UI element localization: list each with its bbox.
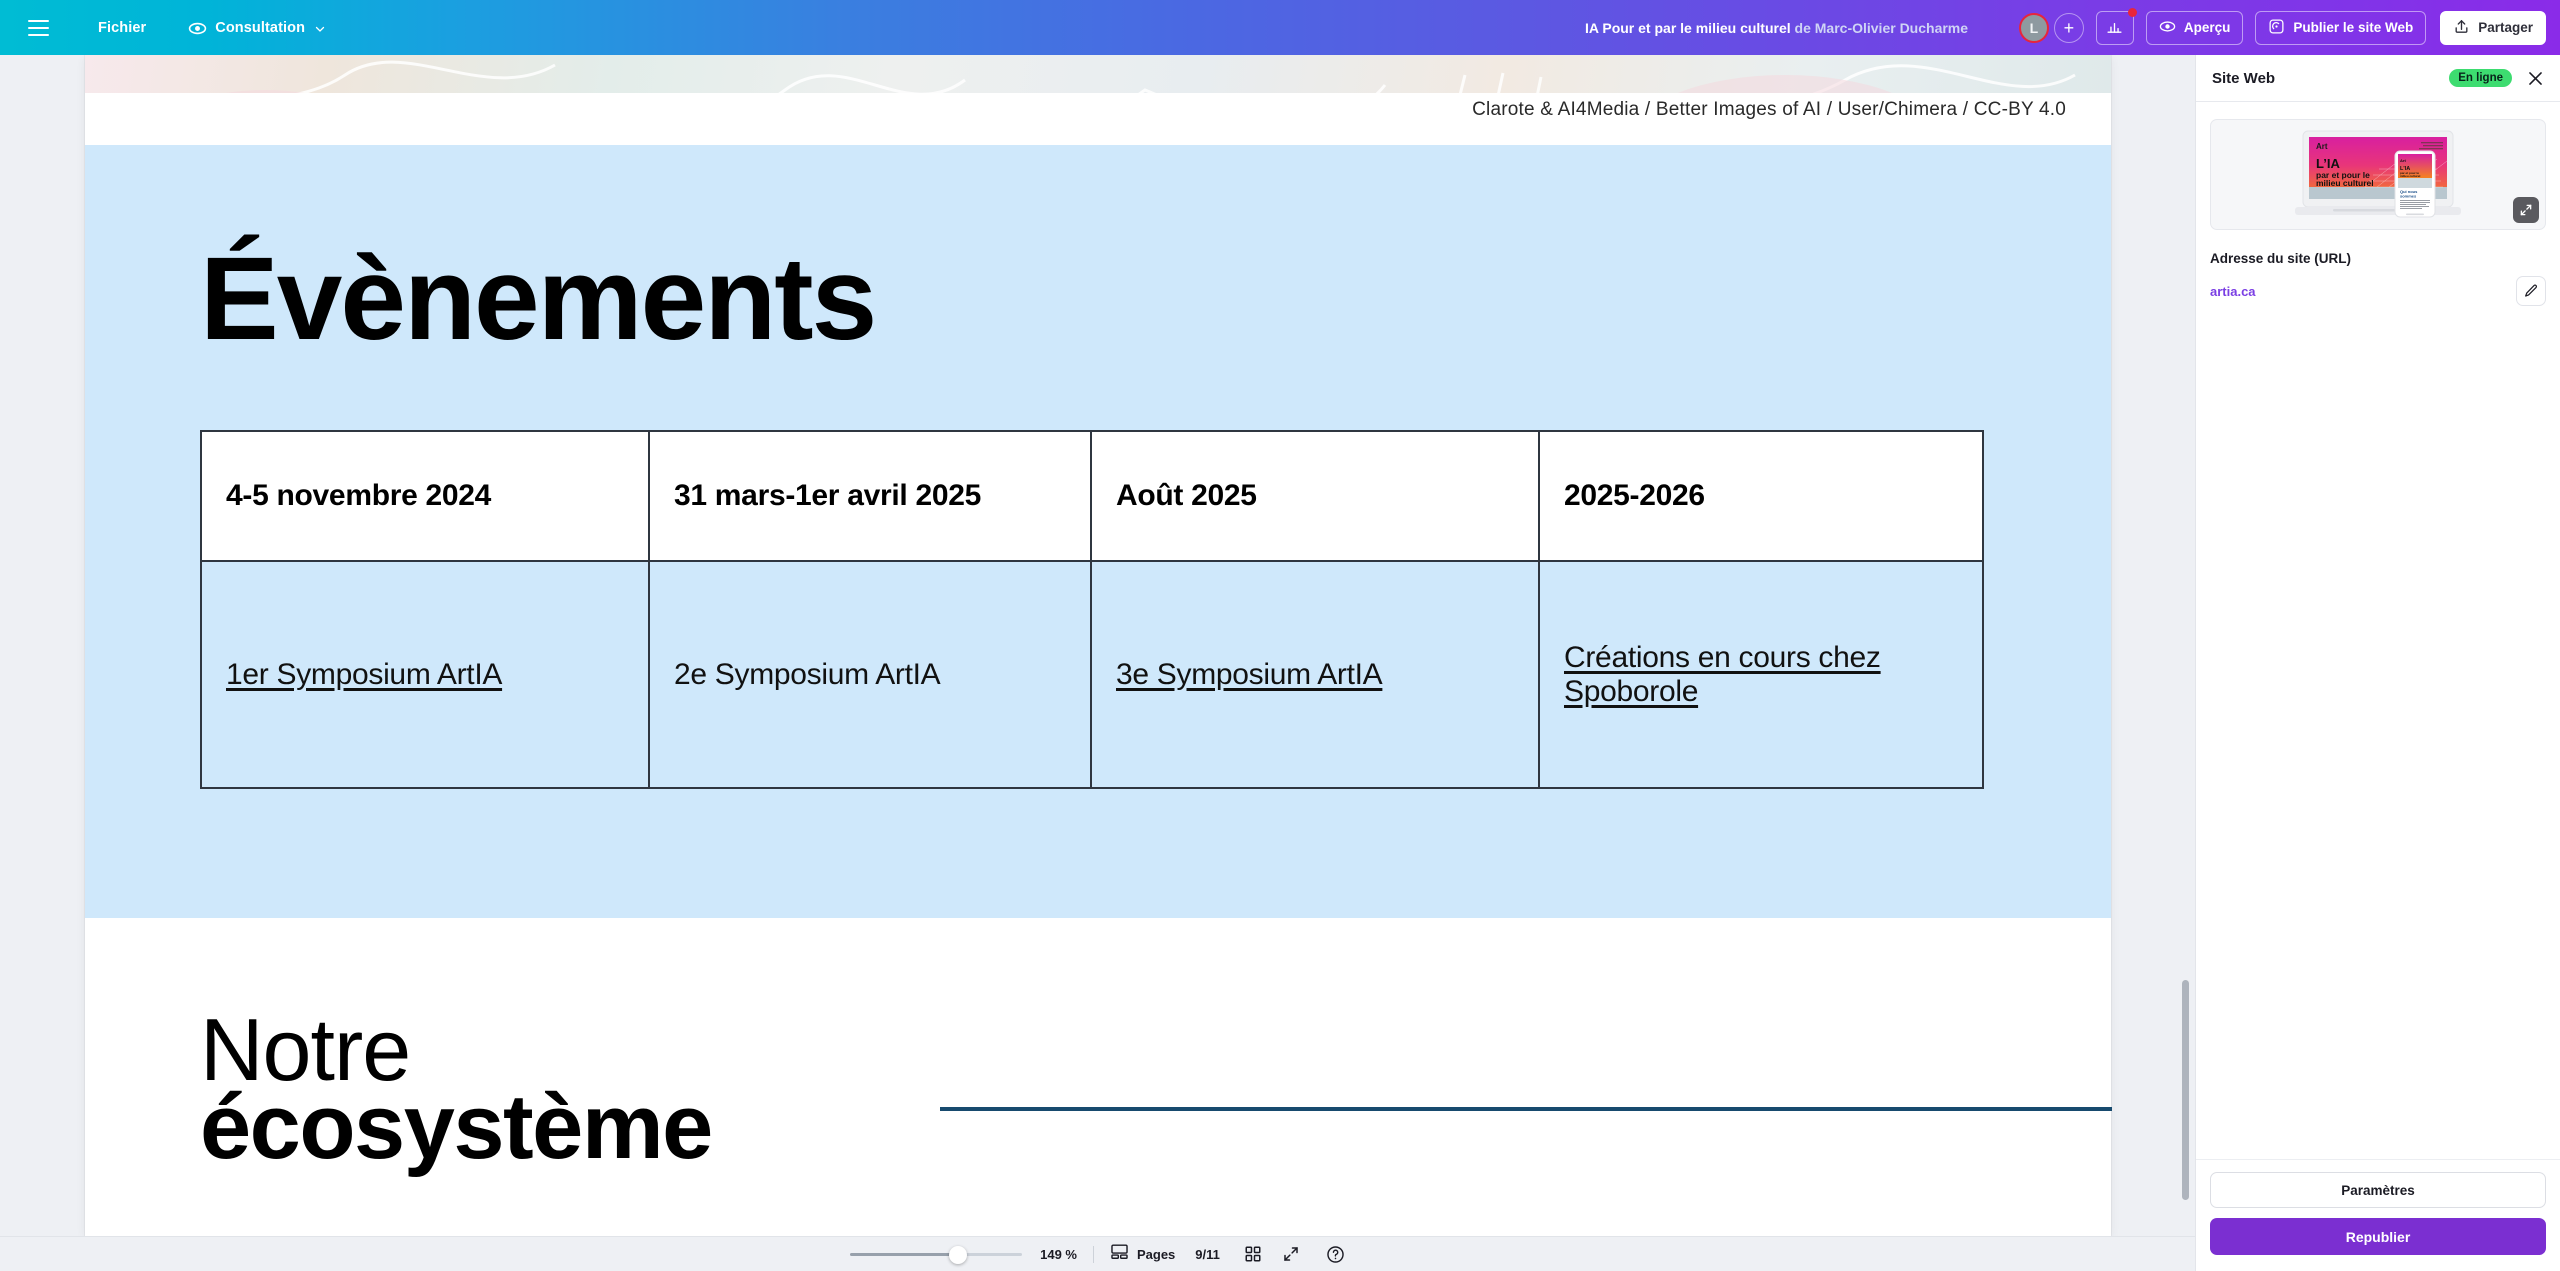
event-link-label[interactable]: Créations en cours chez Spoborole (1564, 641, 1881, 708)
site-preview-thumbnail: Art L’IA par et pour le milieu culturel … (2273, 129, 2483, 221)
grid-view-button[interactable] (1244, 1245, 1262, 1263)
expand-arrows-icon[interactable] (2513, 197, 2539, 223)
table-cell-event-link[interactable]: 3e Symposium ArtIA (1091, 561, 1539, 788)
republish-button[interactable]: Republier (2210, 1218, 2546, 1255)
page-title: Évènements (200, 240, 875, 358)
svg-text:Art: Art (2316, 142, 2328, 151)
table-header-cell: 2025-2026 (1539, 431, 1983, 561)
publish-website-button[interactable]: Publier le site Web (2255, 11, 2426, 45)
menu-item-fichier[interactable]: Fichier (88, 13, 156, 43)
site-url-link[interactable]: artia.ca (2210, 284, 2516, 299)
status-divider (1093, 1246, 1094, 1263)
table-header-cell: 4-5 novembre 2024 (201, 431, 649, 561)
collaborators: L + (2019, 13, 2084, 43)
canvas-scrollbar[interactable] (2182, 980, 2189, 1200)
status-badge: En ligne (2449, 69, 2512, 87)
help-button[interactable] (1326, 1245, 1345, 1264)
zoom-controls: 149 % (850, 1247, 1077, 1262)
share-button-label: Partager (2478, 20, 2533, 35)
table-row-header: 4-5 novembre 2024 31 mars-1er avril 2025… (201, 431, 1983, 561)
add-collaborator-button[interactable]: + (2054, 13, 2084, 43)
svg-text:L’IA: L’IA (2316, 156, 2340, 171)
eye-icon (2159, 18, 2176, 38)
publish-button-label: Publier le site Web (2293, 20, 2413, 35)
svg-text:milieu culturel: milieu culturel (2316, 178, 2374, 188)
url-label: Adresse du site (URL) (2210, 251, 2546, 266)
hero-image-strip (85, 55, 2111, 93)
notification-badge (2128, 8, 2137, 17)
chevron-down-icon (314, 22, 325, 33)
document-title-author: de Marc-Olivier Ducharme (1791, 20, 1968, 36)
statistics-button[interactable] (2096, 11, 2134, 45)
menu-item-fichier-label: Fichier (98, 20, 146, 36)
svg-text:milieu culturel: milieu culturel (2400, 174, 2421, 178)
share-button[interactable]: Partager (2440, 11, 2546, 45)
globe-publish-icon (2268, 18, 2285, 38)
preview-button[interactable]: Aperçu (2146, 11, 2244, 45)
svg-text:sommes: sommes (2400, 193, 2417, 198)
fullscreen-button[interactable] (1282, 1245, 1300, 1263)
zoom-track-empty (960, 1253, 1022, 1256)
panel-footer: Paramètres Republier (2196, 1159, 2560, 1271)
ecosystem-heading-line2: écosystème (200, 1085, 712, 1170)
zoom-level-label: 149 % (1040, 1247, 1077, 1262)
website-panel: Site Web En ligne (2195, 55, 2560, 1271)
zoom-track-filled (850, 1253, 960, 1256)
pages-layout-icon (1110, 1242, 1129, 1266)
zoom-slider-handle[interactable] (949, 1246, 967, 1264)
pencil-icon[interactable] (2516, 276, 2546, 306)
status-bar: 149 % Pages 9/11 (0, 1236, 2195, 1271)
ecosystem-divider (940, 1107, 2112, 1111)
eye-icon (188, 19, 206, 37)
event-link-label[interactable]: 3e Symposium ArtIA (1116, 658, 1382, 691)
document-title[interactable]: IA Pour et par le milieu culturel de Mar… (1585, 20, 1968, 36)
abstract-illustration (85, 55, 2111, 93)
event-link-label[interactable]: 1er Symposium ArtIA (226, 658, 502, 691)
panel-header: Site Web En ligne (2196, 55, 2560, 102)
share-upload-icon (2453, 18, 2470, 38)
pages-button-label: Pages (1137, 1247, 1175, 1262)
menu-item-consultation-label: Consultation (215, 20, 305, 36)
event-label: 2e Symposium ArtIA (674, 658, 940, 691)
preview-button-label: Aperçu (2184, 20, 2231, 35)
table-row: 1er Symposium ArtIA 2e Symposium ArtIA 3… (201, 561, 1983, 788)
pages-button[interactable]: Pages (1110, 1242, 1175, 1266)
document-title-main: IA Pour et par le milieu culturel (1585, 20, 1791, 36)
image-attribution: Clarote & AI4Media / Better Images of AI… (85, 99, 2111, 121)
table-cell-event-link[interactable]: 1er Symposium ArtIA (201, 561, 649, 788)
svg-text:Art: Art (2400, 158, 2406, 163)
menu-item-consultation[interactable]: Consultation (178, 13, 335, 43)
zoom-slider[interactable] (850, 1247, 1022, 1261)
events-table: 4-5 novembre 2024 31 mars-1er avril 2025… (200, 430, 1984, 789)
bar-chart-icon (2106, 18, 2123, 38)
canvas-workspace[interactable]: Clarote & AI4Media / Better Images of AI… (0, 55, 2195, 1236)
avatar[interactable]: L (2019, 13, 2049, 43)
toolbar-actions: L + Aperçu (2019, 0, 2546, 55)
url-row: artia.ca (2210, 276, 2546, 306)
table-cell-event-link[interactable]: Créations en cours chez Spoborole (1539, 561, 1983, 788)
hamburger-menu-icon[interactable] (20, 10, 56, 46)
table-header-cell: Août 2025 (1091, 431, 1539, 561)
top-toolbar: Fichier Consultation IA Pour et par le m… (0, 0, 2560, 55)
site-preview-card[interactable]: Art L’IA par et pour le milieu culturel … (2210, 119, 2546, 230)
close-icon[interactable] (2524, 67, 2546, 89)
table-header-cell: 31 mars-1er avril 2025 (649, 431, 1091, 561)
ecosystem-heading: Notre écosystème (200, 1010, 712, 1170)
page-counter: 9/11 (1195, 1247, 1220, 1262)
panel-title: Site Web (2212, 70, 2449, 87)
settings-button[interactable]: Paramètres (2210, 1172, 2546, 1208)
table-cell-event: 2e Symposium ArtIA (649, 561, 1091, 788)
